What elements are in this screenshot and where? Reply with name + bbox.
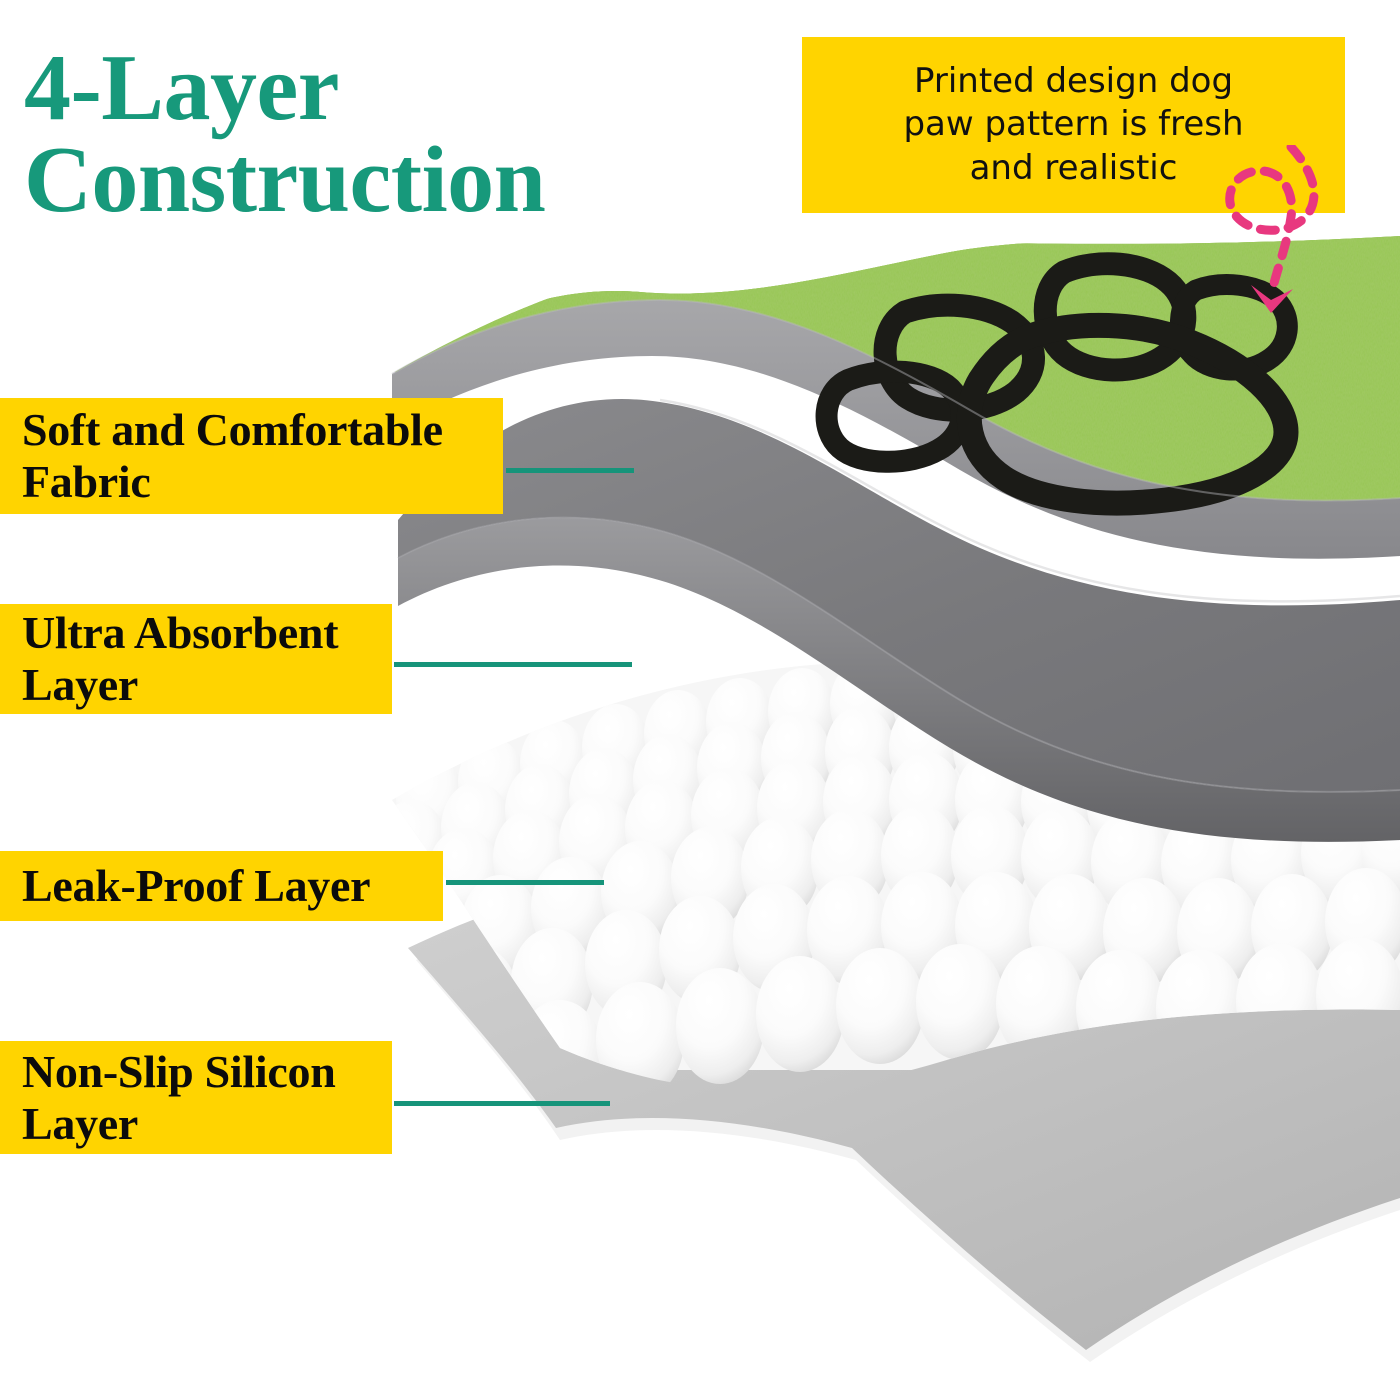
label-text: Non-Slip Silicon Layer — [22, 1046, 335, 1150]
label-leak-proof-layer[interactable]: Leak-Proof Layer — [0, 851, 443, 921]
label-text: Soft and Comfortable Fabric — [22, 404, 443, 508]
page-title: 4-Layer Construction — [24, 42, 724, 226]
callout-box: Printed design dog paw pattern is fresh … — [802, 37, 1345, 213]
leader-line-leak-proof — [446, 880, 604, 885]
label-text: Ultra Absorbent Layer — [22, 607, 338, 711]
leader-line-absorbent — [394, 662, 632, 667]
label-text: Leak-Proof Layer — [22, 860, 370, 912]
leader-line-silicon — [394, 1101, 610, 1106]
infographic-canvas: 4-Layer Construction Printed design dog … — [0, 0, 1400, 1400]
leader-line-fabric — [506, 468, 634, 473]
label-soft-and-comfortable-fabric[interactable]: Soft and Comfortable Fabric — [0, 398, 503, 514]
label-non-slip-silicon-layer[interactable]: Non-Slip Silicon Layer — [0, 1041, 392, 1154]
label-ultra-absorbent-layer[interactable]: Ultra Absorbent Layer — [0, 604, 392, 714]
callout-text: Printed design dog paw pattern is fresh … — [903, 60, 1243, 191]
